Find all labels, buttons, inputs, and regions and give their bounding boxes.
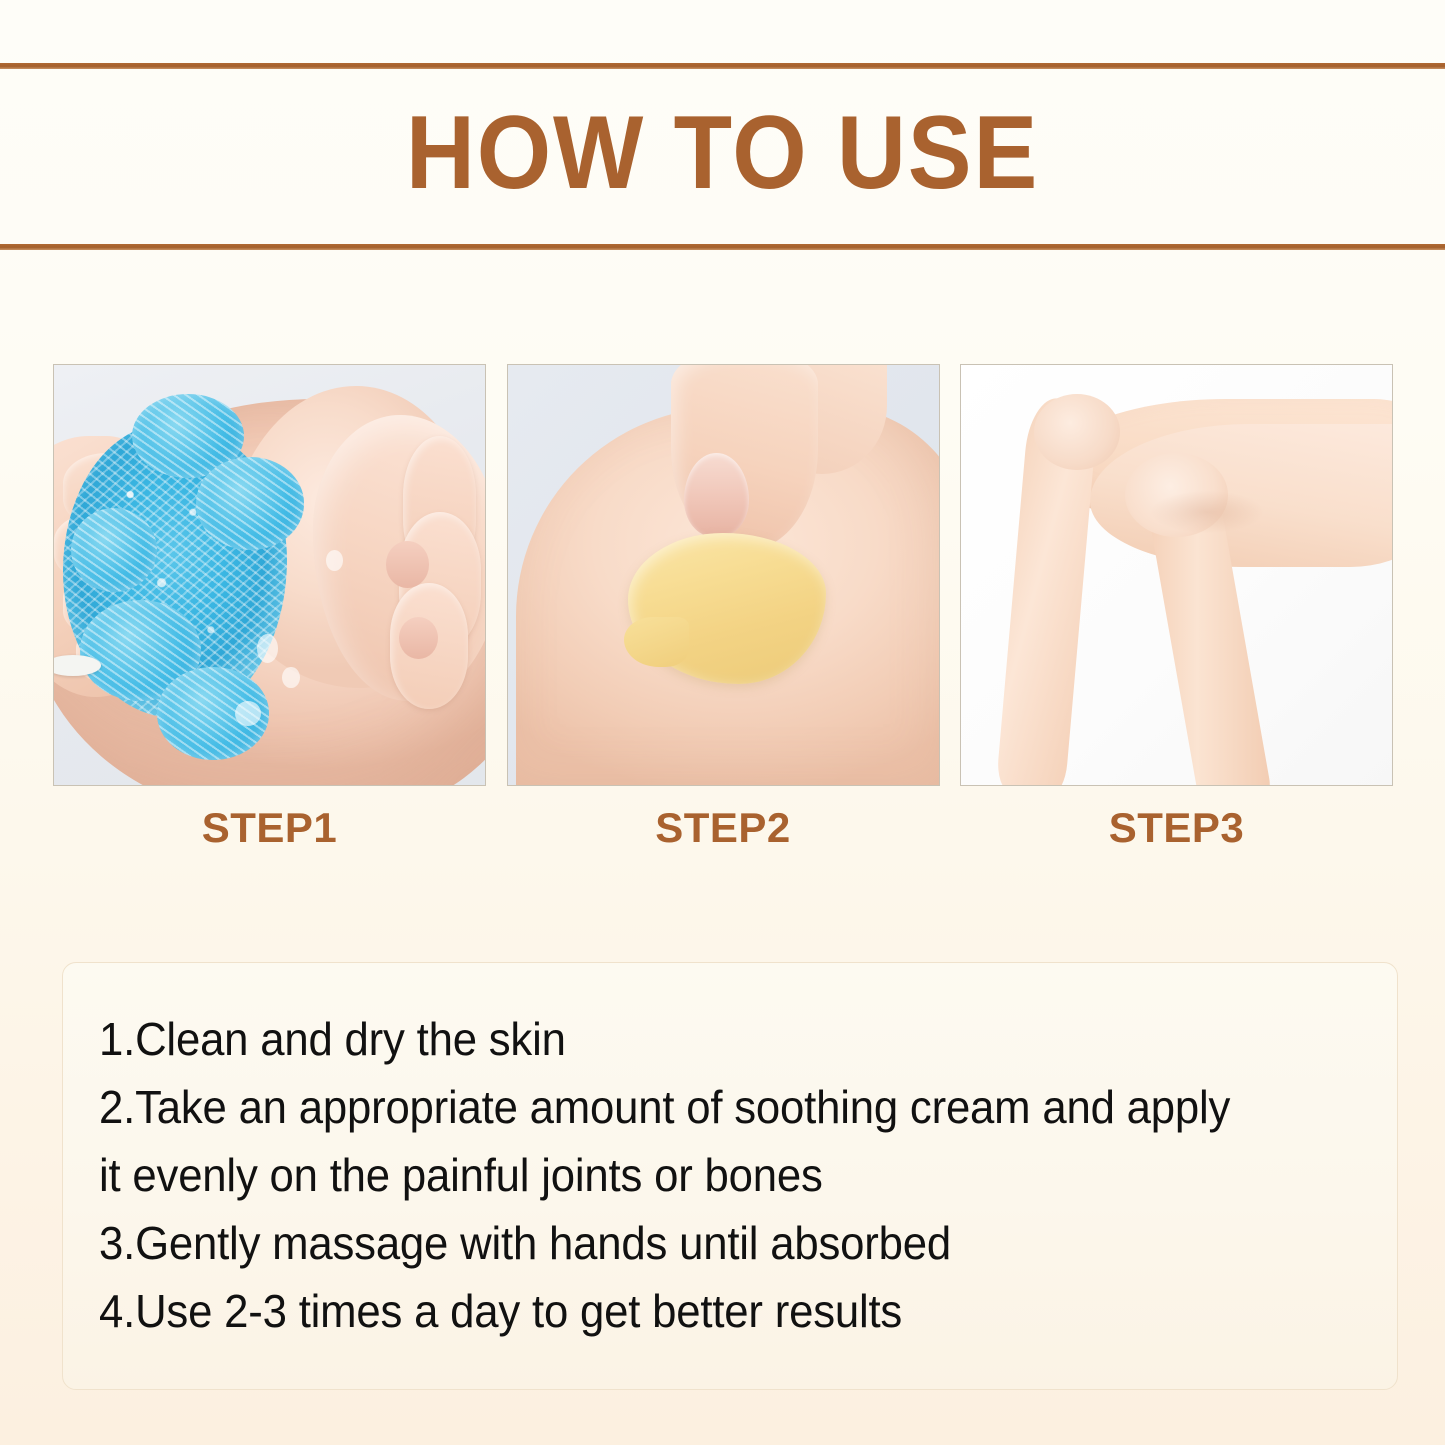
header-top-rule bbox=[0, 63, 1445, 69]
instruction-line-3: it evenly on the painful joints or bones bbox=[99, 1141, 1298, 1209]
header-bottom-rule bbox=[0, 244, 1445, 250]
step-image-2 bbox=[507, 364, 940, 786]
step-label-1: STEP1 bbox=[53, 800, 486, 860]
step1-fingernail-1 bbox=[386, 541, 429, 587]
step1-suds-3 bbox=[235, 701, 261, 726]
step1-suds-4 bbox=[326, 550, 343, 571]
step1-suds-2 bbox=[282, 667, 299, 688]
instructions-box: 1.Clean and dry the skin 2.Take an appro… bbox=[62, 962, 1398, 1390]
step-label-2: STEP2 bbox=[507, 800, 940, 860]
step1-loofah-puff-5 bbox=[71, 508, 157, 592]
step-label-3: STEP3 bbox=[960, 800, 1393, 860]
how-to-use-infographic: HOW TO USE bbox=[0, 0, 1445, 1445]
step1-loofah-puff-2 bbox=[196, 457, 304, 549]
instruction-line-5: 4.Use 2-3 times a day to get better resu… bbox=[99, 1277, 1298, 1345]
instruction-line-1: 1.Clean and dry the skin bbox=[99, 1005, 1298, 1073]
instruction-line-2: 2.Take an appropriate amount of soothing… bbox=[99, 1073, 1298, 1141]
step1-suds-1 bbox=[257, 634, 279, 663]
step-image-3 bbox=[960, 364, 1393, 786]
step1-fingernail-2 bbox=[399, 617, 438, 659]
step-images-row bbox=[53, 364, 1393, 786]
instruction-line-4: 3.Gently massage with hands until absorb… bbox=[99, 1209, 1298, 1277]
step-image-1 bbox=[53, 364, 486, 786]
step3-knee-left bbox=[1034, 394, 1120, 470]
page-title: HOW TO USE bbox=[58, 93, 1387, 213]
step-labels-row: STEP1 STEP2 STEP3 bbox=[53, 800, 1393, 860]
step2-fingernail bbox=[684, 453, 749, 537]
step3-knee-shadow bbox=[1151, 491, 1263, 533]
